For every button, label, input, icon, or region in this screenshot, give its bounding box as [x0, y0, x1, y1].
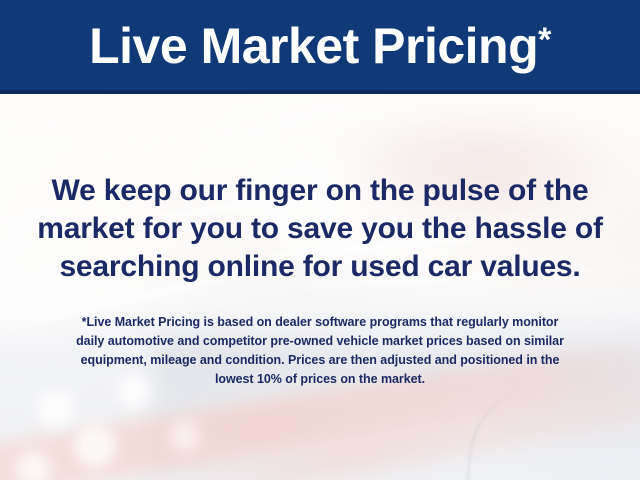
disclaimer-line: equipment, mileage and condition. Prices… [28, 351, 612, 370]
content-area: We keep our finger on the pulse of the m… [0, 94, 640, 480]
header-banner: Live Market Pricing* [0, 0, 640, 94]
page-title: Live Market Pricing* [89, 21, 551, 74]
live-market-pricing-banner: Live Market Pricing* We keep our finger … [0, 0, 640, 480]
headline-line: market for you to save you the hassle of [20, 210, 620, 248]
headline-line: We keep our finger on the pulse of the [20, 172, 620, 210]
headline-block: We keep our finger on the pulse of the m… [20, 172, 620, 286]
disclaimer-block: *Live Market Pricing is based on dealer … [28, 313, 612, 389]
disclaimer-line: *Live Market Pricing is based on dealer … [28, 313, 612, 332]
disclaimer-line: daily automotive and competitor pre-owne… [28, 332, 612, 351]
headline-line: searching online for used car values. [20, 248, 620, 286]
page-title-asterisk: * [538, 21, 551, 59]
page-title-text: Live Market Pricing [89, 18, 538, 74]
disclaimer-line: lowest 10% of prices on the market. [28, 370, 612, 389]
